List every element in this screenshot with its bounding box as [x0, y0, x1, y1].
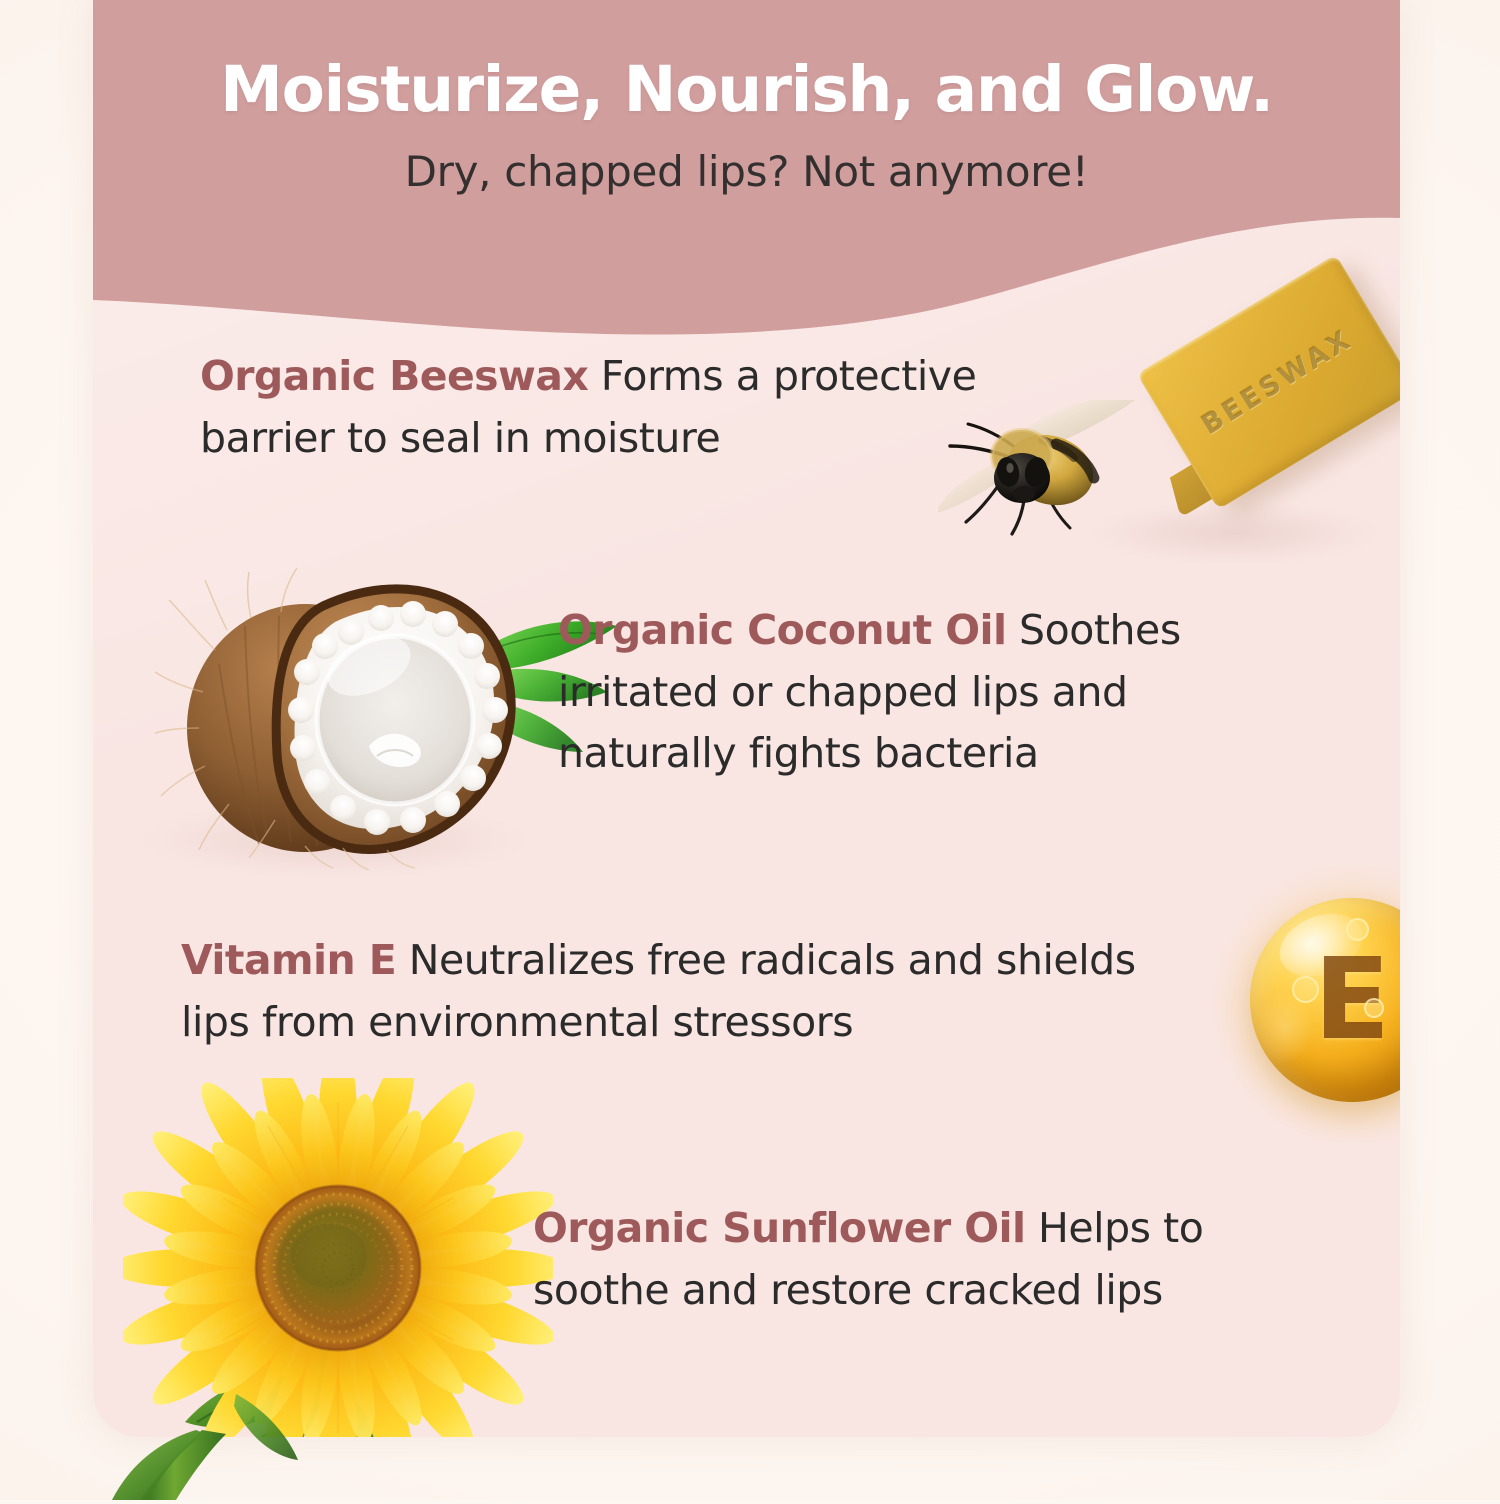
- sunflower-icon: [123, 1078, 553, 1437]
- page-subtitle: Dry, chapped lips? Not anymore!: [405, 147, 1089, 196]
- ingredient-card: Moisturize, Nourish, and Glow. Dry, chap…: [93, 0, 1400, 1437]
- beeswax-bar-label: BEESWAX: [1137, 255, 1400, 510]
- ingredient-text-beeswax: Organic Beeswax Forms a protective barri…: [200, 346, 1080, 469]
- ingredient-text-sunflower: Organic Sunflower Oil Helps to soothe an…: [533, 1198, 1313, 1321]
- vitamin-e-droplet-icon: E: [1238, 890, 1400, 1118]
- vitamin-e-bubble: [1346, 918, 1369, 941]
- ingredient-text-vitamin-e: Vitamin E Neutralizes free radicals and …: [181, 930, 1191, 1053]
- ingredient-name-coconut: Organic Coconut Oil: [558, 606, 1006, 654]
- beeswax-label-text: BEESWAX: [1196, 323, 1358, 440]
- ingredient-name-beeswax: Organic Beeswax: [200, 352, 588, 400]
- beeswax-bar-icon: BEESWAX: [1133, 243, 1400, 573]
- coconut-open-half: [276, 589, 511, 850]
- vitamin-e-bubble: [1292, 976, 1319, 1003]
- vitamin-e-bubble: [1364, 998, 1384, 1018]
- ingredient-name-vitamin-e: Vitamin E: [181, 936, 396, 984]
- ingredient-text-coconut: Organic Coconut Oil Soothes irritated or…: [558, 600, 1288, 785]
- ingredient-name-sunflower: Organic Sunflower Oil: [533, 1204, 1025, 1252]
- infographic-canvas: Moisturize, Nourish, and Glow. Dry, chap…: [0, 0, 1500, 1500]
- page-title: Moisturize, Nourish, and Glow.: [220, 58, 1273, 121]
- coconut-icon: [155, 560, 625, 870]
